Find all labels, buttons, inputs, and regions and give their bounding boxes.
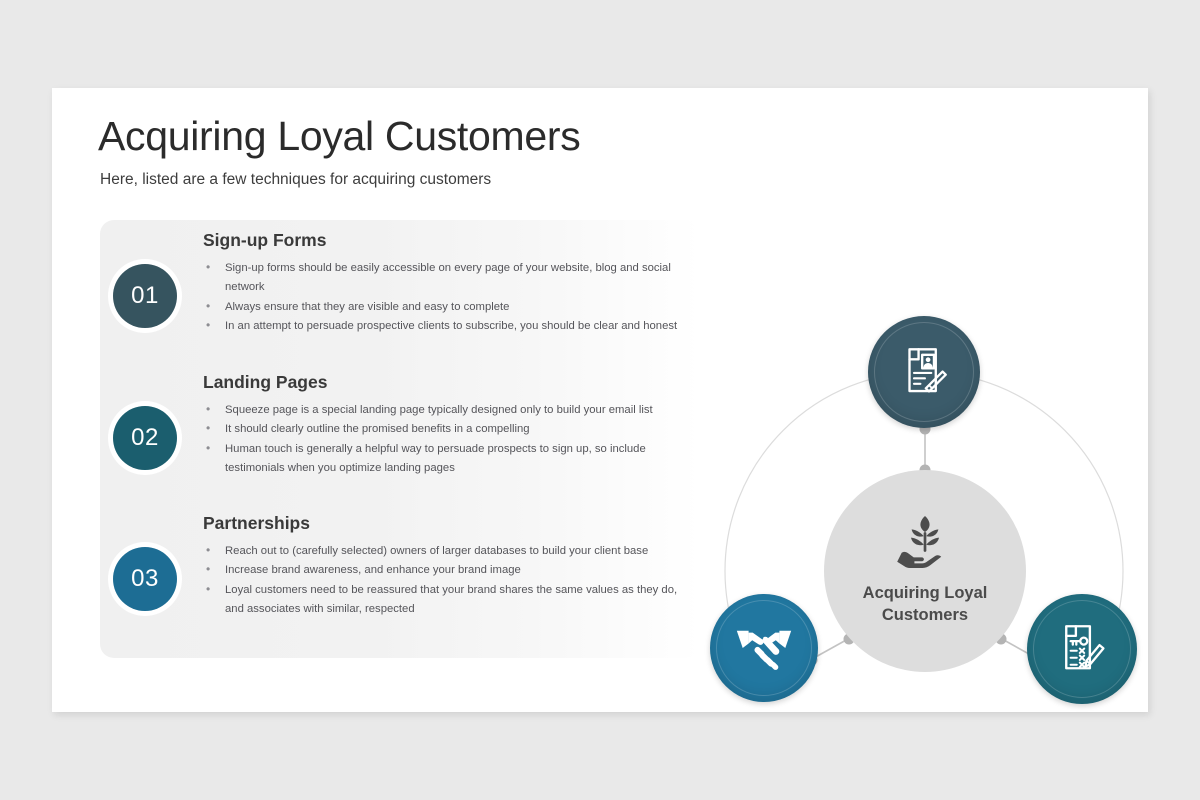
node-landing-pages[interactable] — [1027, 594, 1137, 704]
cycle-diagram: Acquiring Loyal Customers — [652, 198, 1142, 668]
hub-node[interactable]: Acquiring Loyal Customers — [824, 470, 1026, 672]
section-bullets-03: Reach out to (carefully selected) owners… — [203, 542, 683, 620]
techniques-panel: 01 Sign-up Forms Sign-up forms should be… — [100, 220, 700, 658]
section-bullets-01: Sign-up forms should be easily accessibl… — [203, 259, 683, 337]
node-partnerships[interactable] — [710, 594, 818, 702]
step-number-badge-03: 03 — [113, 547, 177, 611]
hub-label: Acquiring Loyal Customers — [850, 582, 1000, 626]
section-title-01: Sign-up Forms — [203, 230, 326, 251]
checklist-pen-icon — [1054, 621, 1110, 677]
list-item: Always ensure that they are visible and … — [203, 298, 683, 317]
step-number-badge-02: 02 — [113, 406, 177, 470]
section-bullets-02: Squeeze page is a special landing page t… — [203, 401, 683, 479]
list-item: Sign-up forms should be easily accessibl… — [203, 259, 683, 298]
list-item: Squeeze page is a special landing page t… — [203, 401, 683, 420]
list-item: Reach out to (carefully selected) owners… — [203, 542, 683, 561]
section-title-03: Partnerships — [203, 513, 310, 534]
list-item: It should clearly outline the promised b… — [203, 420, 683, 439]
signup-form-icon — [895, 343, 953, 401]
hand-holding-plant-icon — [896, 516, 954, 568]
slide-canvas: Acquiring Loyal Customers Here, listed a… — [52, 88, 1148, 712]
list-item: Increase brand awareness, and enhance yo… — [203, 561, 683, 580]
list-item: Human touch is generally a helpful way t… — [203, 440, 683, 479]
node-signup-forms[interactable] — [868, 316, 980, 428]
step-number-badge-01: 01 — [113, 264, 177, 328]
list-item: In an attempt to persuade prospective cl… — [203, 317, 683, 336]
list-item: Loyal customers need to be reassured tha… — [203, 581, 683, 620]
handshake-icon — [735, 624, 793, 672]
page-title: Acquiring Loyal Customers — [98, 113, 580, 160]
section-title-02: Landing Pages — [203, 372, 327, 393]
page-subtitle: Here, listed are a few techniques for ac… — [100, 171, 491, 189]
